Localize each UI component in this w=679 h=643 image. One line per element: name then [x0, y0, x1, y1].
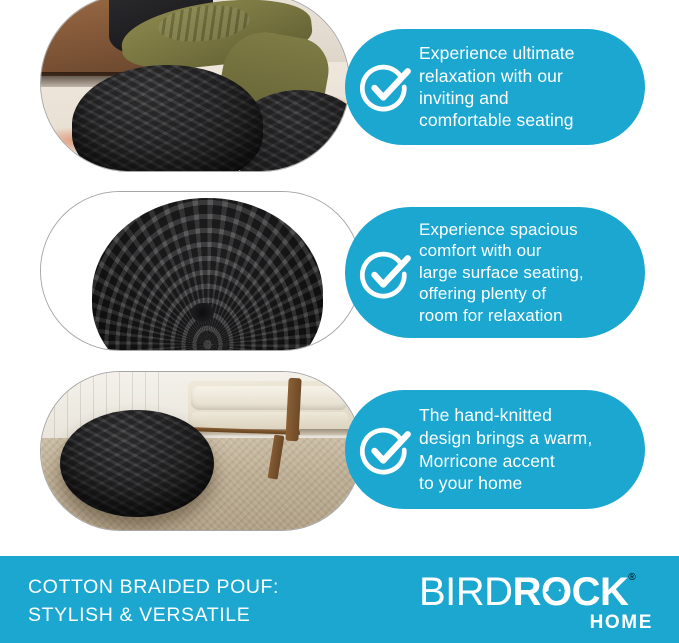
photo3-sofa-cushion	[191, 386, 348, 410]
registered-trademark-icon: ®	[628, 572, 635, 583]
photo3-pouf	[60, 410, 214, 517]
feature-callout-1-text: Experience ultimate relaxation with our …	[419, 42, 575, 132]
photo2-center-stitch	[191, 303, 213, 322]
feature-callout-2: Experience spacious comfort with our lar…	[345, 207, 645, 338]
feature-callout-3-text: The hand-knitted design brings a warm, M…	[419, 404, 592, 494]
footer-banner: COTTON BRAIDED POUF: STYLISH & VERSATILE…	[0, 556, 679, 643]
brand-logo-ck-text: CK	[572, 572, 629, 612]
brand-logo-r-text: R	[513, 572, 541, 612]
brand-logo: BIRD R O CK ® HOME	[419, 572, 655, 630]
product-photo-panel-3	[40, 371, 362, 531]
product-photo-panel-2	[40, 191, 362, 351]
check-circle-icon	[357, 422, 413, 478]
photo-person-on-pouf	[41, 0, 349, 171]
footer-tagline: COTTON BRAIDED POUF: STYLISH & VERSATILE	[28, 574, 279, 629]
bird-silhouette-icon	[544, 583, 568, 603]
brand-logo-o-with-bird: O	[541, 572, 572, 612]
photo-pouf-top-view	[41, 192, 361, 350]
photo3-sofa-seat	[191, 412, 348, 429]
brand-logo-bird-text: BIRD	[419, 572, 513, 612]
brand-logo-home-text: HOME	[590, 612, 653, 634]
feature-callout-2-text: Experience spacious comfort with our lar…	[419, 219, 584, 327]
marketing-image-canvas: Experience ultimate relaxation with our …	[0, 0, 679, 643]
photo-pouf-in-living-room	[41, 372, 361, 530]
photo1-pouf	[72, 65, 263, 171]
brand-logo-wordmark: BIRD R O CK ®	[419, 572, 655, 612]
feature-callout-1: Experience ultimate relaxation with our …	[345, 29, 645, 145]
check-circle-icon	[357, 59, 413, 115]
feature-callout-3: The hand-knitted design brings a warm, M…	[345, 390, 645, 509]
product-photo-panel-1	[40, 0, 350, 172]
check-circle-icon	[357, 246, 413, 302]
